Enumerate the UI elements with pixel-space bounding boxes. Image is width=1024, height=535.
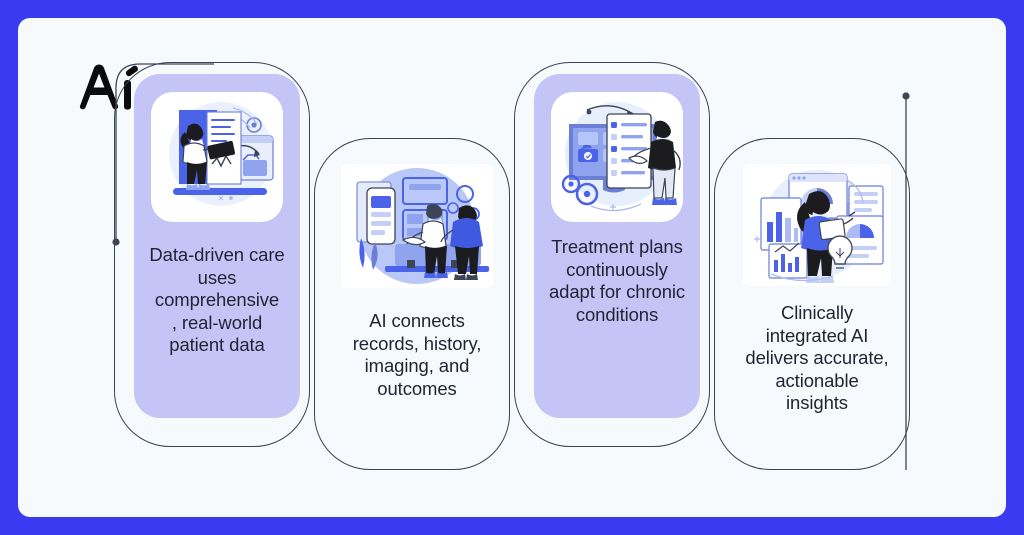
card-4-body: Clinically integrated AI delivers accura…: [734, 150, 900, 450]
card-1-body: Data-driven care uses comprehensive , re…: [134, 74, 300, 418]
infographic-panel: Data-driven care uses comprehensive , re…: [18, 18, 1006, 517]
card-3-body: Treatment plans continuously adapt for c…: [534, 74, 700, 418]
illustration-clinically-integrated-ai: [743, 164, 891, 286]
card-2-body: AI connects records, history, imaging, a…: [334, 150, 500, 450]
card-stage: Data-driven care uses comprehensive , re…: [18, 18, 1006, 517]
card-4-text: Clinically integrated AI delivers accura…: [732, 302, 902, 415]
illustration-ai-connects-records: [341, 164, 493, 288]
illustration-treatment-plans: [551, 92, 683, 222]
illustration-data-driven-care: [151, 92, 283, 222]
infographic-frame: Data-driven care uses comprehensive , re…: [0, 0, 1024, 535]
card-1-text: Data-driven care uses comprehensive , re…: [137, 244, 297, 357]
card-2-text: AI connects records, history, imaging, a…: [333, 310, 501, 400]
card-3-text: Treatment plans continuously adapt for c…: [536, 236, 698, 326]
